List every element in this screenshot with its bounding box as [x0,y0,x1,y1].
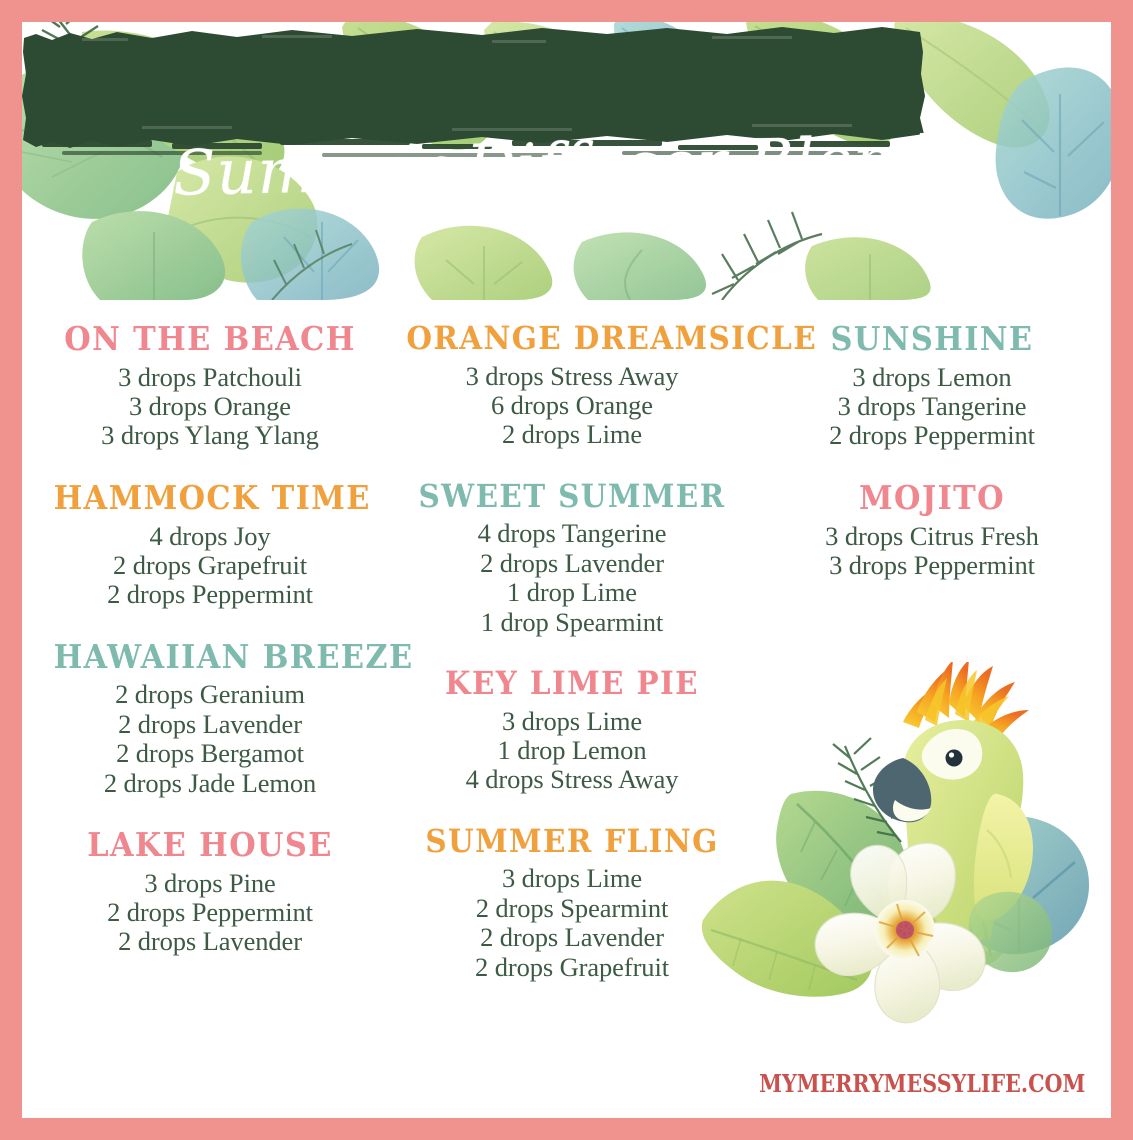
blend-column-3: SUNSHINE3 drops Lemon3 drops Tangerine2 … [767,322,1097,610]
blend-recipe-line: 3 drops Stress Away [392,362,752,391]
blend-recipe-lines: 3 drops Lime1 drop Lemon4 drops Stress A… [392,707,752,795]
blend-recipe-line: 2 drops Jade Lemon [40,769,380,798]
blend-recipe-line: 2 drops Peppermint [40,580,380,609]
blends-grid: ON THE BEACH3 drops Patchouli3 drops Ora… [22,322,1111,1118]
blend-recipe-line: 2 drops Bergamot [40,739,380,768]
blend-recipe-line: 2 drops Grapefruit [392,953,752,982]
blend-recipe-lines: 3 drops Citrus Fresh3 drops Peppermint [767,522,1097,581]
blend-recipe-line: 2 drops Peppermint [767,421,1097,450]
blend-recipe-lines: 3 drops Stress Away6 drops Orange2 drops… [392,362,752,450]
blend-recipe-line: 6 drops Orange [392,391,752,420]
blend-recipe-line: 4 drops Tangerine [392,519,752,548]
blend-card: MOJITO3 drops Citrus Fresh3 drops Pepper… [767,481,1097,580]
blend-recipe-line: 2 drops Lime [392,420,752,449]
blend-recipe-line: 1 drop Lemon [392,736,752,765]
blend-title: LAKE HOUSE [54,828,367,863]
blend-card: SUMMER FLING3 drops Lime2 drops Spearmin… [392,825,752,982]
blend-recipe-line: 4 drops Stress Away [392,765,752,794]
blend-recipe-line: 3 drops Lime [392,707,752,736]
blend-recipe-lines: 2 drops Geranium2 drops Lavender2 drops … [40,680,380,798]
blend-title: HAWAIIAN BREEZE [54,640,367,675]
blend-recipe-line: 2 drops Peppermint [40,898,380,927]
blend-card: LAKE HOUSE3 drops Pine2 drops Peppermint… [40,828,380,957]
blend-recipe-line: 3 drops Lemon [767,363,1097,392]
blend-recipe-line: 3 drops Patchouli [40,363,380,392]
site-watermark: MYMERRYMESSYLIFE.COM [759,1069,1085,1098]
blend-recipe-lines: 3 drops Lemon3 drops Tangerine2 drops Pe… [767,363,1097,451]
white-sheet: Summer Diffuser Blends ON THE BEACH3 dro… [22,22,1111,1118]
blend-recipe-lines: 3 drops Lime2 drops Spearmint2 drops Lav… [392,864,752,982]
blend-recipe-line: 3 drops Pine [40,869,380,898]
blend-card: HAWAIIAN BREEZE2 drops Geranium2 drops L… [40,640,380,798]
blend-card: HAMMOCK TIME4 drops Joy2 drops Grapefrui… [40,481,380,610]
blend-recipe-line: 2 drops Lavender [392,549,752,578]
blend-title: SUNSHINE [780,322,1084,357]
blend-recipe-lines: 4 drops Joy2 drops Grapefruit2 drops Pep… [40,522,380,610]
title-container: Summer Diffuser Blends [118,95,1023,235]
blend-recipe-line: 2 drops Lavender [40,927,380,956]
blend-title: MOJITO [780,481,1084,516]
blend-recipe-line: 3 drops Ylang Ylang [40,421,380,450]
tropical-banner: Summer Diffuser Blends [22,22,1111,300]
blend-recipe-lines: 3 drops Patchouli3 drops Orange3 drops Y… [40,363,380,451]
blend-recipe-line: 3 drops Lime [392,864,752,893]
blend-column-2: ORANGE DREAMSICLE3 drops Stress Away6 dr… [392,322,752,1012]
blend-recipe-line: 4 drops Joy [40,522,380,551]
blend-card: ON THE BEACH3 drops Patchouli3 drops Ora… [40,322,380,451]
blend-title: HAMMOCK TIME [54,481,367,516]
blend-card: ORANGE DREAMSICLE3 drops Stress Away6 dr… [392,322,752,450]
blend-recipe-line: 3 drops Orange [40,392,380,421]
blend-column-1: ON THE BEACH3 drops Patchouli3 drops Ora… [40,322,380,987]
page-title: Summer Diffuser Blends [172,121,968,209]
blend-recipe-line: 3 drops Tangerine [767,392,1097,421]
blend-recipe-line: 2 drops Lavender [40,710,380,739]
blend-recipe-line: 2 drops Geranium [40,680,380,709]
blend-recipe-line: 3 drops Peppermint [767,551,1097,580]
blend-recipe-line: 1 drop Spearmint [392,608,752,637]
blend-recipe-line: 2 drops Spearmint [392,894,752,923]
blend-title: SUMMER FLING [406,825,737,859]
blend-recipe-line: 2 drops Grapefruit [40,551,380,580]
blend-recipe-lines: 4 drops Tangerine2 drops Lavender1 drop … [392,519,752,637]
blend-recipe-line: 3 drops Citrus Fresh [767,522,1097,551]
blend-title: SWEET SUMMER [406,480,737,514]
blend-title: ON THE BEACH [54,322,367,357]
blend-recipe-line: 2 drops Lavender [392,923,752,952]
blend-card: SUNSHINE3 drops Lemon3 drops Tangerine2 … [767,322,1097,451]
blend-card: KEY LIME PIE3 drops Lime1 drop Lemon4 dr… [392,667,752,795]
blend-title: KEY LIME PIE [406,667,737,701]
blend-recipe-lines: 3 drops Pine2 drops Peppermint2 drops La… [40,869,380,957]
printable-page: Summer Diffuser Blends ON THE BEACH3 dro… [0,0,1133,1140]
blend-card: SWEET SUMMER4 drops Tangerine2 drops Lav… [392,480,752,637]
blend-recipe-line: 1 drop Lime [392,578,752,607]
blend-title: ORANGE DREAMSICLE [406,322,737,356]
